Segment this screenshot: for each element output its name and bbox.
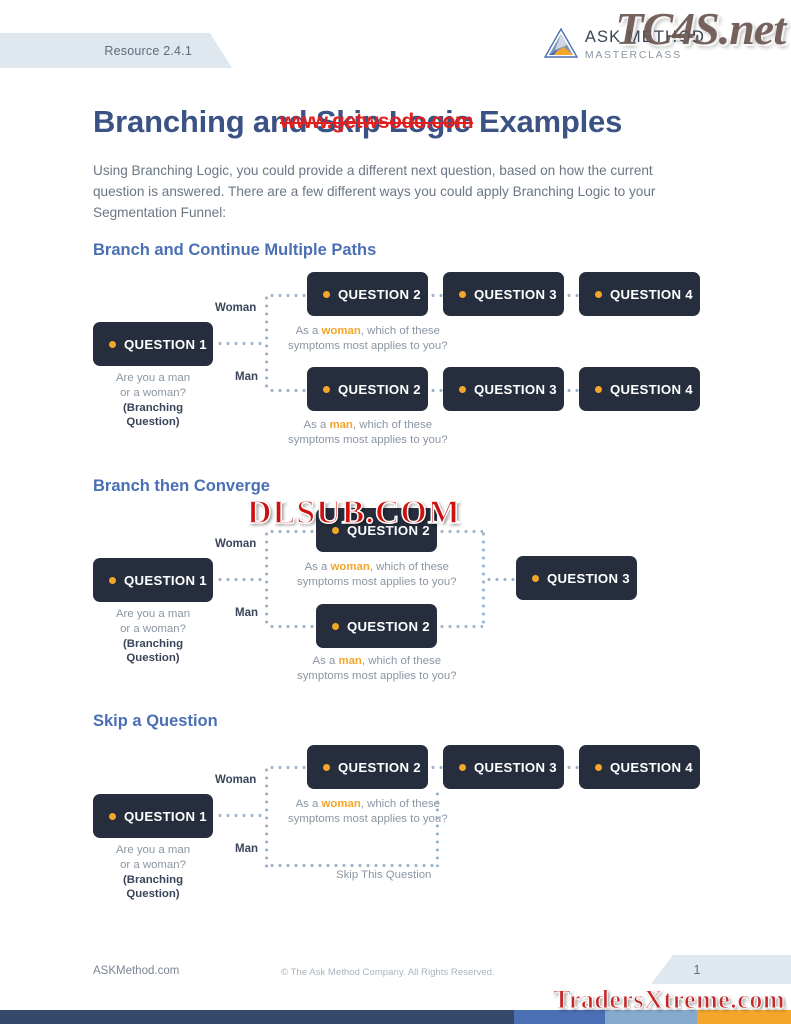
s1-bottom-question-4-label: QUESTION 4 bbox=[610, 382, 693, 397]
document-page: Resource 2.4.1 ASK METHOD MASTERCLASS Br… bbox=[0, 0, 791, 1024]
bullet-dot-icon bbox=[459, 764, 466, 771]
s1-top-question-2-label: QUESTION 2 bbox=[338, 287, 421, 302]
logo-subtitle: MASTERCLASS bbox=[585, 50, 705, 61]
s1-branch-label-man: Man bbox=[235, 371, 258, 383]
section-heading-1: Branch and Continue Multiple Paths bbox=[93, 241, 376, 260]
s3-question-3-label: QUESTION 3 bbox=[474, 760, 557, 775]
s3-question-2-label: QUESTION 2 bbox=[338, 760, 421, 775]
s1-top-question-3-label: QUESTION 3 bbox=[474, 287, 557, 302]
s1-branch-label-woman: Woman bbox=[215, 302, 256, 314]
bar-segment-1 bbox=[0, 1010, 514, 1024]
s3-root-connector bbox=[216, 814, 266, 817]
bullet-dot-icon bbox=[323, 291, 330, 298]
s2-root-connector bbox=[216, 578, 266, 581]
s2-vertical-split bbox=[265, 530, 268, 626]
s1-woman-connector bbox=[268, 294, 308, 297]
bar-segment-3 bbox=[605, 1010, 697, 1024]
s3-question-4-box: QUESTION 4 bbox=[579, 745, 700, 789]
bar-segment-4 bbox=[697, 1010, 791, 1024]
s2-question-3-label: QUESTION 3 bbox=[547, 571, 630, 586]
bar-segment-2 bbox=[514, 1010, 605, 1024]
logo-text: ASK METHOD MASTERCLASS bbox=[585, 27, 705, 60]
s3-vertical-split bbox=[265, 766, 268, 868]
s2-bottom-caption: As a man, which of these symptoms most a… bbox=[297, 654, 457, 683]
resource-tab: Resource 2.4.1 bbox=[0, 33, 232, 68]
bullet-dot-icon bbox=[323, 386, 330, 393]
bullet-dot-icon bbox=[332, 527, 339, 534]
s3-skip-label: Skip This Question bbox=[336, 869, 431, 881]
ask-method-logo: ASK METHOD MASTERCLASS bbox=[544, 27, 705, 60]
bullet-dot-icon bbox=[459, 386, 466, 393]
s1-top-caption: As a woman, which of these symptoms most… bbox=[288, 324, 448, 353]
bullet-dot-icon bbox=[109, 813, 116, 820]
s1-bottom-question-2-label: QUESTION 2 bbox=[338, 382, 421, 397]
s2-top-question-2-box: QUESTION 2 bbox=[316, 508, 437, 552]
s1-bottom-question-4-box: QUESTION 4 bbox=[579, 367, 700, 411]
s3-skip-horizontal bbox=[268, 864, 438, 867]
s1-bottom-question-3-label: QUESTION 3 bbox=[474, 382, 557, 397]
bullet-dot-icon bbox=[595, 291, 602, 298]
s1-question-1-label: QUESTION 1 bbox=[124, 337, 207, 352]
bullet-dot-icon bbox=[595, 764, 602, 771]
s2-branch-label-man: Man bbox=[235, 607, 258, 619]
footer-site-link[interactable]: ASKMethod.com bbox=[93, 965, 179, 977]
s1-vertical-split bbox=[265, 294, 268, 390]
bullet-dot-icon bbox=[109, 341, 116, 348]
s3-branch-label-woman: Woman bbox=[215, 774, 256, 786]
s1-top-question-2-box: QUESTION 2 bbox=[307, 272, 428, 316]
s2-converge-top-connector bbox=[438, 530, 483, 533]
intro-paragraph: Using Branching Logic, you could provide… bbox=[93, 160, 693, 223]
s1-question-1-caption: Are you a man or a woman? (Branching Que… bbox=[83, 371, 223, 430]
s3-skip-vertical bbox=[436, 790, 439, 867]
s2-man-connector bbox=[268, 625, 317, 628]
s1-man-connector bbox=[268, 389, 308, 392]
s1-top-question-4-label: QUESTION 4 bbox=[610, 287, 693, 302]
s2-question-1-caption: Are you a man or a woman? (Branching Que… bbox=[83, 607, 223, 666]
s3-top-caption: As a woman, which of these symptoms most… bbox=[288, 797, 448, 826]
bullet-dot-icon bbox=[532, 575, 539, 582]
s1-question-1-box: QUESTION 1 bbox=[93, 322, 213, 366]
s1-bottom-question-2-box: QUESTION 2 bbox=[307, 367, 428, 411]
s1-bottom-caption: As a man, which of these symptoms most a… bbox=[288, 418, 448, 447]
s3-question-1-box: QUESTION 1 bbox=[93, 794, 213, 838]
s3-question-4-label: QUESTION 4 bbox=[610, 760, 693, 775]
page-number-tab: 1 bbox=[651, 955, 791, 984]
bullet-dot-icon bbox=[109, 577, 116, 584]
resource-tab-label: Resource 2.4.1 bbox=[104, 44, 232, 58]
s2-top-caption: As a woman, which of these symptoms most… bbox=[297, 560, 457, 589]
s2-woman-connector bbox=[268, 530, 317, 533]
s1-root-connector bbox=[216, 342, 266, 345]
page-title: Branching and Skip Logic Examples bbox=[93, 104, 622, 140]
s3-question-1-label: QUESTION 1 bbox=[124, 809, 207, 824]
section-heading-2: Branch then Converge bbox=[93, 477, 270, 496]
page-number: 1 bbox=[694, 963, 749, 977]
s3-question-3-box: QUESTION 3 bbox=[443, 745, 564, 789]
s3-branch-label-man: Man bbox=[235, 843, 258, 855]
s2-converge-bottom-connector bbox=[438, 625, 483, 628]
bullet-dot-icon bbox=[323, 764, 330, 771]
s1-top-question-4-box: QUESTION 4 bbox=[579, 272, 700, 316]
s3-question-2-box: QUESTION 2 bbox=[307, 745, 428, 789]
s2-question-1-label: QUESTION 1 bbox=[124, 573, 207, 588]
bullet-dot-icon bbox=[332, 623, 339, 630]
footer-copyright: © The Ask Method Company. All Rights Res… bbox=[281, 967, 495, 978]
logo-title: ASK METHOD bbox=[585, 29, 705, 46]
bullet-dot-icon bbox=[459, 291, 466, 298]
s3-q2-q3-connector bbox=[429, 766, 445, 769]
s2-question-3-box: QUESTION 3 bbox=[516, 556, 637, 600]
s2-question-1-box: QUESTION 1 bbox=[93, 558, 213, 602]
s3-question-1-caption: Are you a man or a woman? (Branching Que… bbox=[83, 843, 223, 902]
s2-bottom-question-2-box: QUESTION 2 bbox=[316, 604, 437, 648]
s3-woman-connector bbox=[268, 766, 308, 769]
section-heading-3: Skip a Question bbox=[93, 712, 218, 731]
bullet-dot-icon bbox=[595, 386, 602, 393]
s2-top-question-2-label: QUESTION 2 bbox=[347, 523, 430, 538]
triangle-logo-icon bbox=[544, 27, 578, 59]
s2-branch-label-woman: Woman bbox=[215, 538, 256, 550]
s1-bottom-question-3-box: QUESTION 3 bbox=[443, 367, 564, 411]
s3-q3-q4-connector bbox=[565, 766, 581, 769]
s2-bottom-question-2-label: QUESTION 2 bbox=[347, 619, 430, 634]
bottom-color-bar bbox=[0, 1010, 791, 1024]
s1-top-question-3-box: QUESTION 3 bbox=[443, 272, 564, 316]
s2-converge-to-q3-connector bbox=[485, 578, 517, 581]
